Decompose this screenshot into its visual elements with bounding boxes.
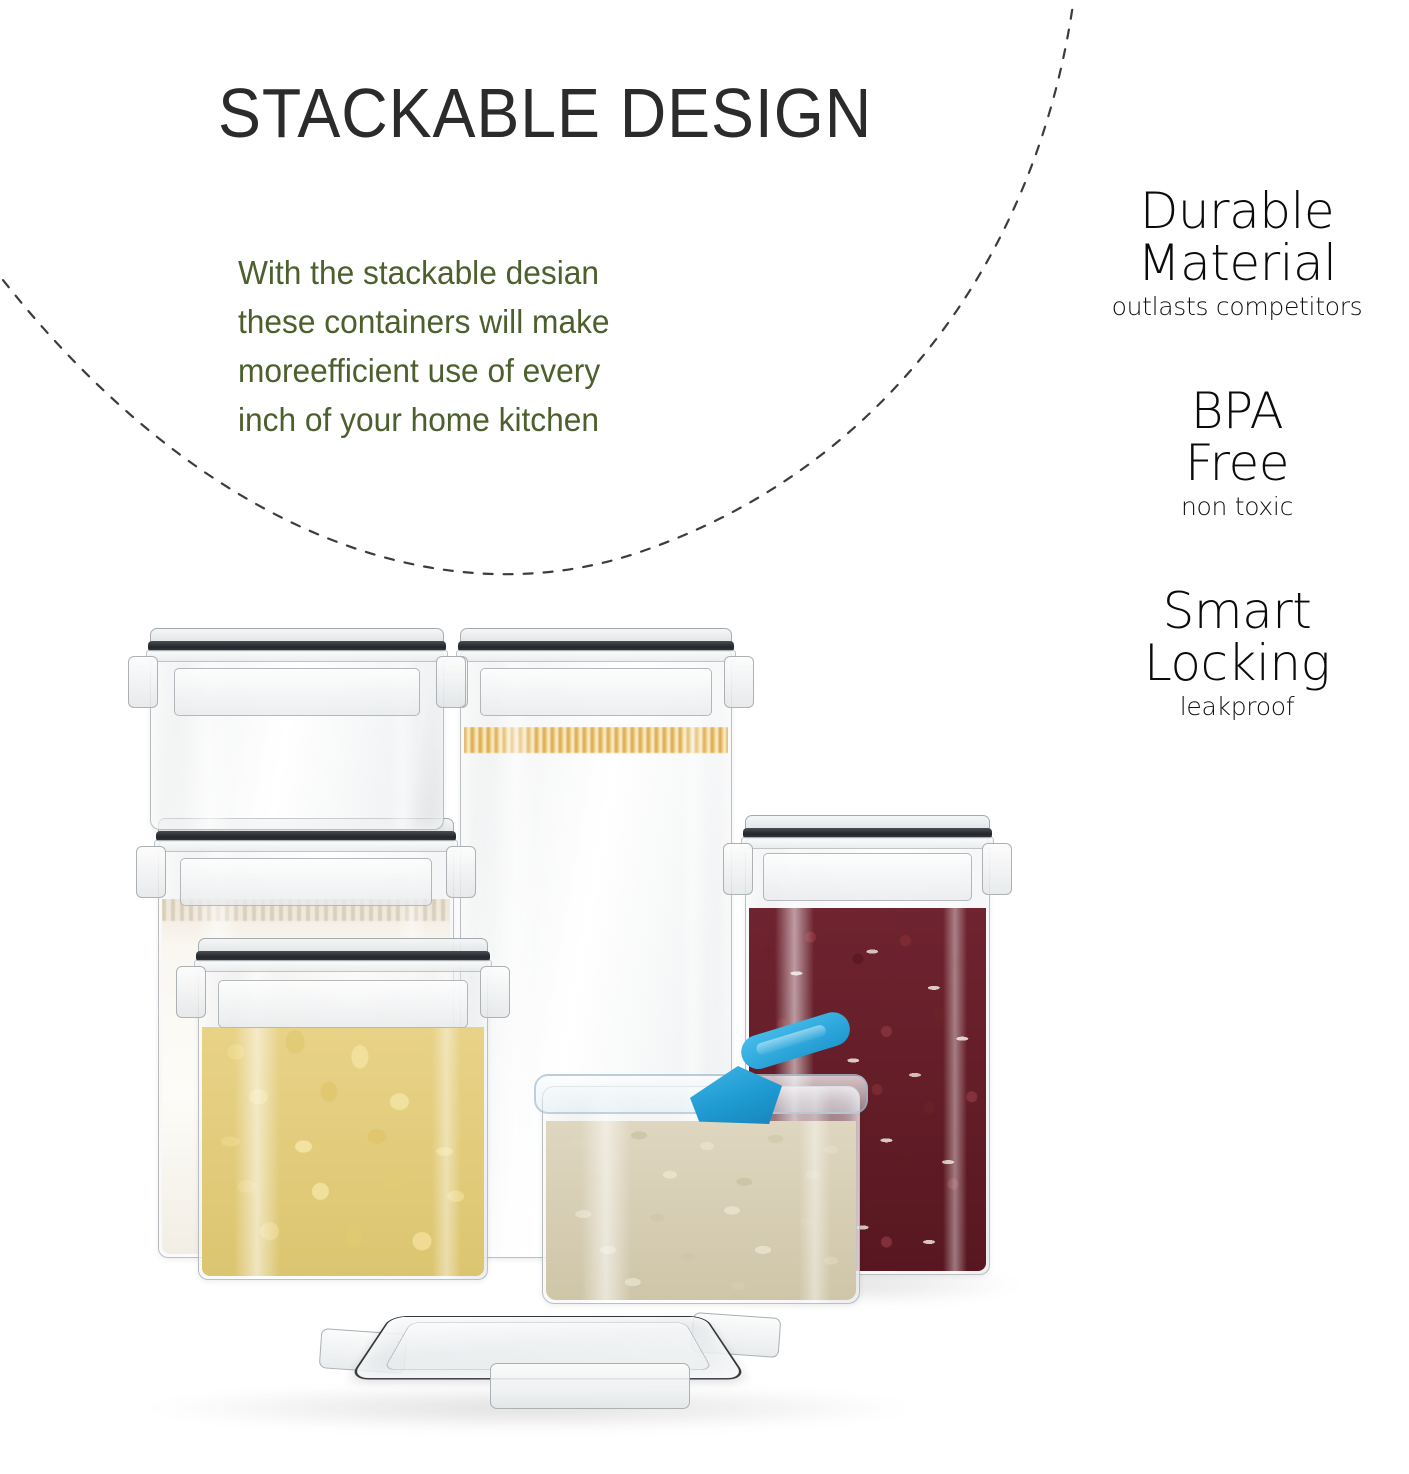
- latch-clip-left: [128, 656, 158, 708]
- product-photo: [0, 600, 1060, 1469]
- front-latch-bar: [218, 980, 468, 1028]
- lid-rim: [146, 650, 448, 662]
- feature-durable-material: Durable Material outlasts competitors: [1065, 185, 1409, 323]
- latch-clip-left: [136, 846, 166, 898]
- latch-clip-left: [176, 966, 206, 1018]
- front-latch-bar: [180, 858, 432, 906]
- lid-front-latch: [490, 1363, 690, 1409]
- lid-rim: [456, 650, 736, 662]
- feature-title: Smart Locking: [1065, 585, 1409, 689]
- latch-clip-right: [982, 843, 1012, 895]
- feature-list: Durable Material outlasts competitors BP…: [1065, 185, 1409, 769]
- lid-rim: [741, 837, 994, 849]
- lid-rim: [154, 840, 458, 852]
- latch-clip-right: [724, 656, 754, 708]
- measuring-scoop: [690, 1040, 870, 1140]
- pasta-tips: [464, 727, 728, 753]
- description-line-3: moreefficient use of every: [238, 346, 737, 395]
- feature-subtitle: non toxic: [1065, 491, 1409, 523]
- container-contents-oats: [546, 1121, 856, 1300]
- feature-subtitle: leakproof: [1065, 691, 1409, 723]
- latch-clip-left: [723, 843, 753, 895]
- front-latch-bar: [763, 853, 972, 901]
- feature-title-line-2: Locking: [1065, 637, 1409, 689]
- detached-lid: [372, 1285, 724, 1403]
- feature-title-line-2: Material: [1065, 237, 1409, 289]
- feature-title-line-1: Durable: [1065, 185, 1409, 237]
- cookie-container: [150, 648, 444, 830]
- feature-title-line-1: Smart: [1065, 585, 1409, 637]
- container-contents-cornflakes: [202, 1027, 484, 1276]
- container-lid: [192, 938, 494, 972]
- front-latch-bar: [480, 668, 712, 716]
- latch-clip-right: [436, 656, 466, 708]
- container-lid: [454, 628, 738, 662]
- feature-subtitle: outlasts competitors: [1065, 291, 1409, 323]
- description-line-4: inch of your home kitchen: [238, 395, 737, 444]
- latch-clip-right: [480, 966, 510, 1018]
- container-lid: [739, 815, 996, 849]
- feature-title-line-2: Free: [1065, 437, 1409, 489]
- description-paragraph: With the stackable desian these containe…: [238, 248, 737, 444]
- feature-smart-locking: Smart Locking leakproof: [1065, 585, 1409, 723]
- container-lid: [144, 628, 450, 662]
- scoop-bowl: [690, 1066, 782, 1124]
- feature-title-line-1: BPA: [1065, 385, 1409, 437]
- description-line-2: these containers will make: [238, 297, 737, 346]
- feature-title: Durable Material: [1065, 185, 1409, 289]
- latch-clip-right: [446, 846, 476, 898]
- lid-rim: [194, 960, 492, 972]
- feature-bpa-free: BPA Free non toxic: [1065, 385, 1409, 523]
- front-latch-bar: [174, 668, 420, 716]
- feature-title: BPA Free: [1065, 385, 1409, 489]
- description-line-1: With the stackable desian: [238, 248, 737, 297]
- page-title: STACKABLE DESIGN: [218, 78, 872, 148]
- cornflakes-container: [198, 958, 488, 1280]
